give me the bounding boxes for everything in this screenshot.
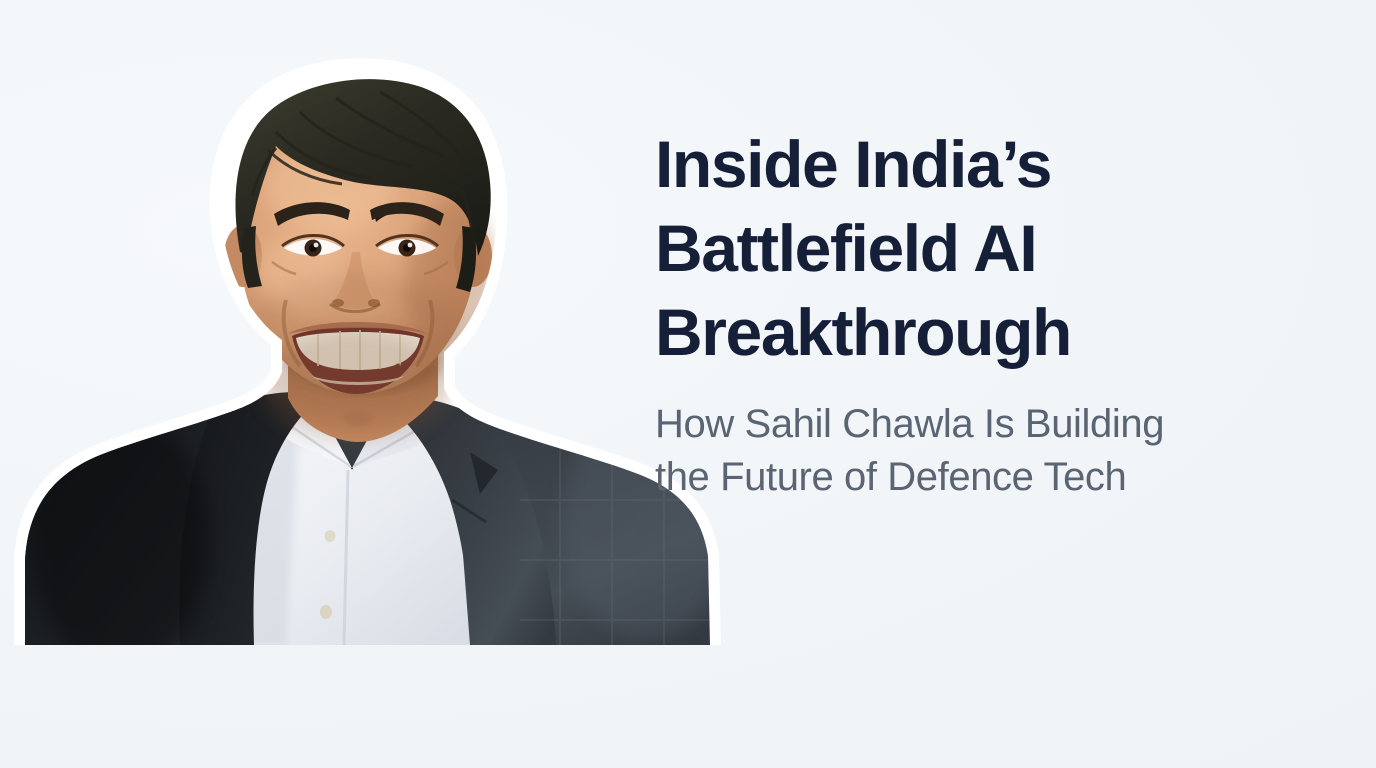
shirt-button xyxy=(325,530,336,542)
shirt-button xyxy=(320,605,332,619)
page-title: Inside India’s Battlefield AI Breakthrou… xyxy=(655,122,1295,374)
article-text-block: Inside India’s Battlefield AI Breakthrou… xyxy=(655,122,1295,504)
portrait-body xyxy=(10,79,734,645)
article-hero-card: Inside India’s Battlefield AI Breakthrou… xyxy=(0,0,1376,768)
portrait-illustration xyxy=(0,0,760,645)
chin xyxy=(344,410,372,426)
portrait-photo xyxy=(0,0,760,645)
mole xyxy=(395,363,401,368)
article-subtitle: How Sahil Chawla Is Building the Future … xyxy=(655,374,1295,504)
portrait-figure xyxy=(0,0,760,645)
